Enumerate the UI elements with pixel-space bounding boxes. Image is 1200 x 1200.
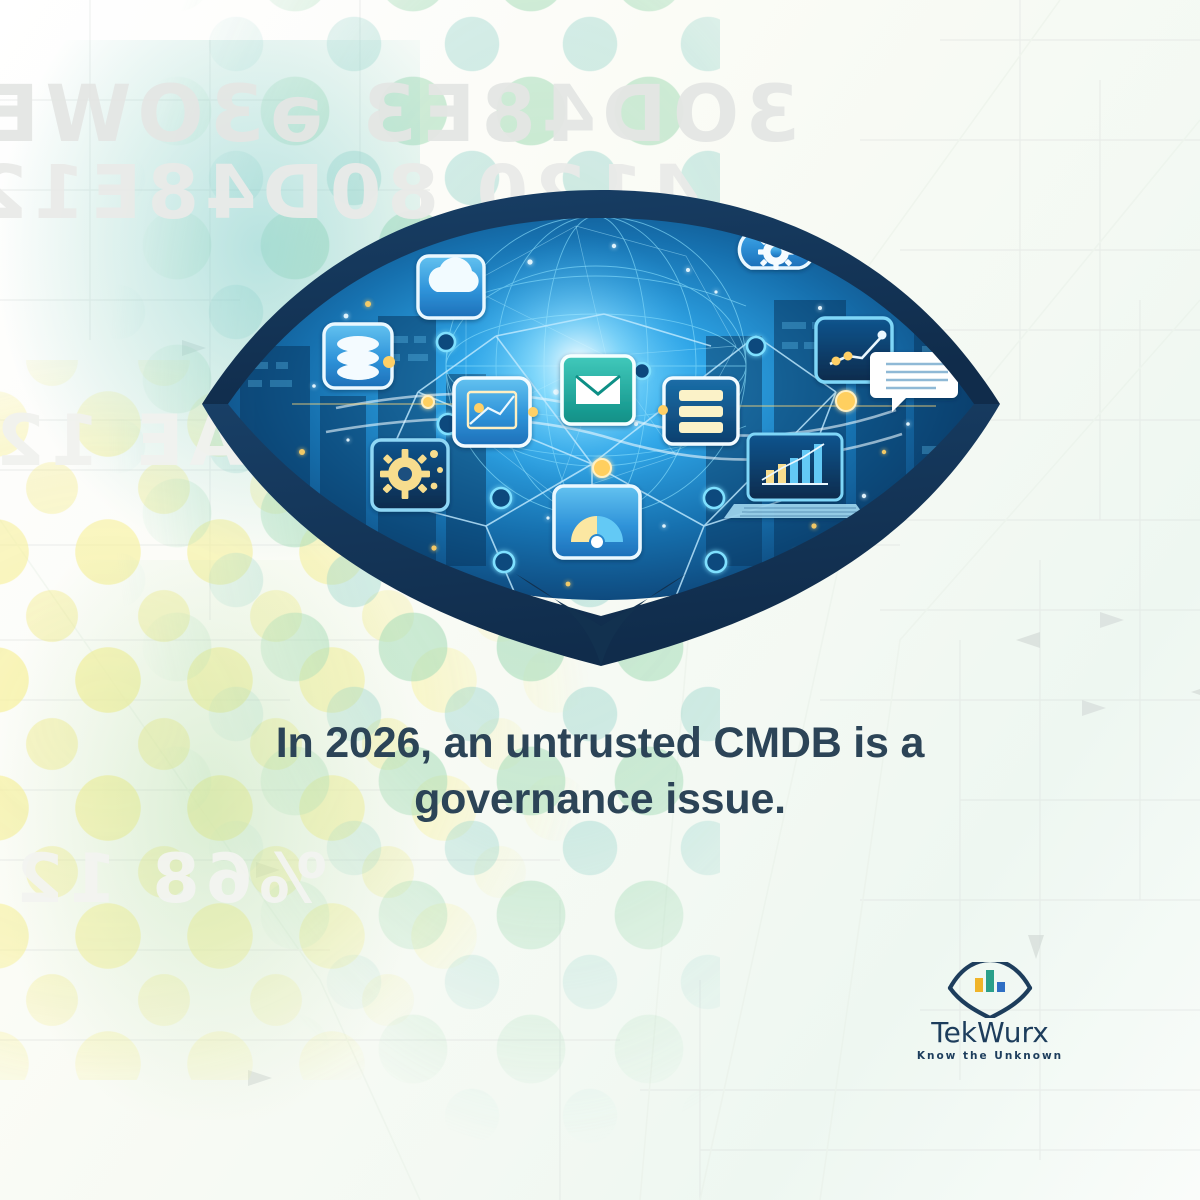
cmdb-eye-illustration — [196, 196, 1006, 626]
background-ghost-numerals-1: 3OD48E3 ǝ3OWE — [0, 70, 799, 160]
eye-with-bar-chart-icon — [908, 962, 1072, 1018]
background-ghost-numerals-4: %68 12 — [10, 840, 327, 919]
database-icon — [324, 324, 395, 388]
gauge-icon — [554, 486, 640, 558]
page-headline: In 2026, an untrusted CMDB is a governan… — [160, 716, 1040, 828]
email-icon — [562, 356, 634, 424]
brand-tagline: Know the Unknown — [908, 1051, 1072, 1062]
cloud-icon — [418, 256, 484, 318]
monitor-chart-icon — [454, 378, 538, 446]
poster-canvas: 3OD48E3 ǝ3OWE 4120 80D48E12 3WAE 12 %68 … — [0, 0, 1200, 1200]
gear-icon — [372, 440, 448, 510]
list-icon — [658, 378, 738, 444]
brand-logo[interactable]: TekWurx Know the Unknown — [908, 962, 1072, 1066]
brand-name: TekWurx — [908, 1019, 1072, 1047]
